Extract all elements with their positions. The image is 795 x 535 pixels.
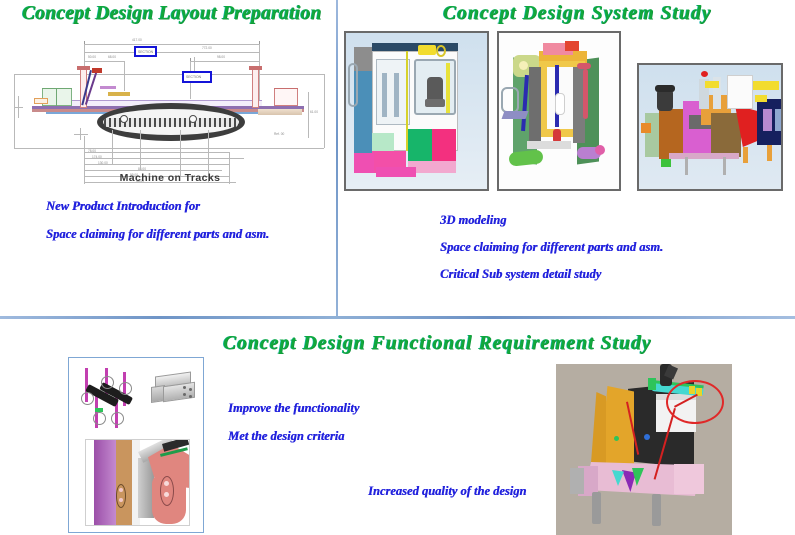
horizontal-divider <box>0 316 795 319</box>
dimension-label: 61.00 <box>310 110 318 114</box>
panel-title-layout-preparation: Concept Design Layout Preparation <box>22 3 322 25</box>
caption-met-the-design-criteria: Met the design criteria <box>228 429 344 444</box>
dimension-label: 50.00 <box>88 55 96 59</box>
track-drive-sprocket <box>189 115 197 123</box>
caption-increased-quality-of-the-design: Increased quality of the design <box>368 484 526 499</box>
caption-space-claiming-system: Space claiming for different parts and a… <box>440 240 663 255</box>
engineering-layout-drawing: 417.00 772.00 98.00 50.00 68.00 SECTION … <box>12 30 328 170</box>
dimension-label: Ref. 00 <box>274 132 284 136</box>
dimension-label: 772.00 <box>202 46 212 50</box>
image-operator-cab-assembly-3d-model <box>344 31 489 191</box>
dimension-label: 174.00 <box>92 155 102 159</box>
dimension-label: 98.00 <box>217 55 225 59</box>
annotation-text-b: SECTION <box>186 75 201 79</box>
drawing-annotation-box-a: SECTION <box>134 46 157 57</box>
image-machine-frame-subsystem-3d-model <box>497 31 621 191</box>
drawing-caption-machine-on-tracks: Machine on Tracks <box>12 172 328 184</box>
caption-space-claiming-layout: Space claiming for different parts and a… <box>46 227 269 242</box>
image-full-machine-parts-assembly-3d-model <box>637 63 783 191</box>
image-pin-joint-detail-zoom-view <box>85 439 190 526</box>
caption-3d-modeling: 3D modeling <box>440 213 506 228</box>
panel-title-system-study: Concept Design System Study <box>443 3 712 25</box>
dimension-label: 417.00 <box>132 38 142 42</box>
dimension-label: 130.00 <box>98 161 108 165</box>
annotation-text-a: SECTION <box>138 50 153 54</box>
caption-new-product-introduction: New Product Introduction for <box>46 199 200 214</box>
image-bracket-and-linkage-parts-cad-view <box>68 357 204 533</box>
caption-critical-sub-system-detail-study: Critical Sub system detail study <box>440 267 601 282</box>
red-ellipse-highlight <box>666 380 724 424</box>
dimension-label: 68.00 <box>108 55 116 59</box>
dimension-label: 78.00 <box>88 149 96 153</box>
vertical-divider <box>336 0 338 318</box>
drawing-annotation-box-b: SECTION <box>182 71 212 83</box>
track-idler-wheel <box>120 115 128 123</box>
caption-improve-the-functionality: Improve the functionality <box>228 401 359 416</box>
slide-canvas: Concept Design Layout Preparation 417.00… <box>0 0 795 535</box>
image-hood-assembly-with-highlight-3d-model <box>556 364 732 535</box>
panel-title-functional-requirement-study: Concept Design Functional Requirement St… <box>223 333 652 355</box>
